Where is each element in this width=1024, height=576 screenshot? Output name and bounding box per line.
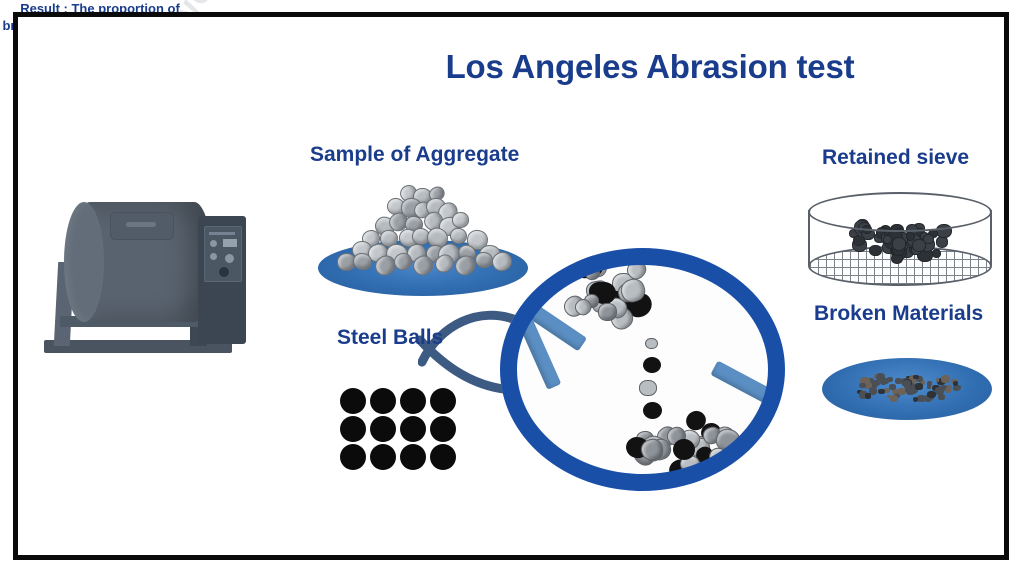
steel-ball xyxy=(430,416,456,442)
broken-fragment xyxy=(915,384,923,391)
steel-ball xyxy=(430,444,456,470)
broken-fragment xyxy=(889,384,896,390)
retained-chunk xyxy=(932,249,942,258)
steel-ball xyxy=(370,388,396,414)
broken-fragment xyxy=(927,391,936,398)
broken-fragment xyxy=(890,395,899,402)
magnifier-ring xyxy=(500,248,785,491)
abrasion-machine-illustration xyxy=(38,190,248,375)
page-title: Los Angeles Abrasion test xyxy=(330,48,970,86)
label-sample-of-aggregate: Sample of Aggregate xyxy=(310,143,519,167)
broken-fragment xyxy=(913,375,918,380)
machine-drum-face xyxy=(64,202,104,322)
aggregate-sample-illustration xyxy=(318,178,528,298)
steel-ball xyxy=(370,444,396,470)
machine-hatch-handle xyxy=(126,222,156,227)
label-steel-balls: Steel Balls xyxy=(337,326,443,350)
steel-ball xyxy=(370,416,396,442)
broken-fragment xyxy=(865,393,871,398)
panel-knob-2 xyxy=(210,253,217,260)
slide-canvas: vincivilworld vincivilworld Los Angeles … xyxy=(0,0,1024,576)
panel-label-strip xyxy=(209,232,235,235)
broken-fragment xyxy=(878,389,884,394)
panel-button xyxy=(219,267,229,277)
steel-ball xyxy=(400,416,426,442)
sieve-rim xyxy=(808,192,992,232)
broken-fragment xyxy=(859,383,865,389)
label-broken-materials: Broken Materials xyxy=(814,302,983,326)
steel-ball xyxy=(340,444,366,470)
broken-fragment xyxy=(903,380,912,387)
broken-fragment xyxy=(945,388,951,393)
broken-fragment xyxy=(941,375,950,382)
broken-fragment xyxy=(938,394,945,400)
broken-materials-illustration xyxy=(822,358,992,420)
retained-sieve-illustration xyxy=(808,192,988,284)
steel-ball xyxy=(340,388,366,414)
steel-ball xyxy=(400,444,426,470)
steel-ball xyxy=(340,416,366,442)
broken-fragment xyxy=(913,391,917,394)
panel-display xyxy=(223,239,237,247)
machine-panel-face xyxy=(204,226,242,282)
retained-chunk xyxy=(892,237,907,251)
retained-chunk xyxy=(853,235,865,246)
magnifier-view xyxy=(500,248,785,491)
panel-knob-1 xyxy=(210,240,217,247)
panel-knob-3 xyxy=(225,254,234,263)
retained-chunk xyxy=(883,235,892,243)
broken-fragment xyxy=(953,381,959,386)
label-retained-sieve: Retained sieve xyxy=(822,146,969,170)
broken-fragment xyxy=(895,378,902,384)
